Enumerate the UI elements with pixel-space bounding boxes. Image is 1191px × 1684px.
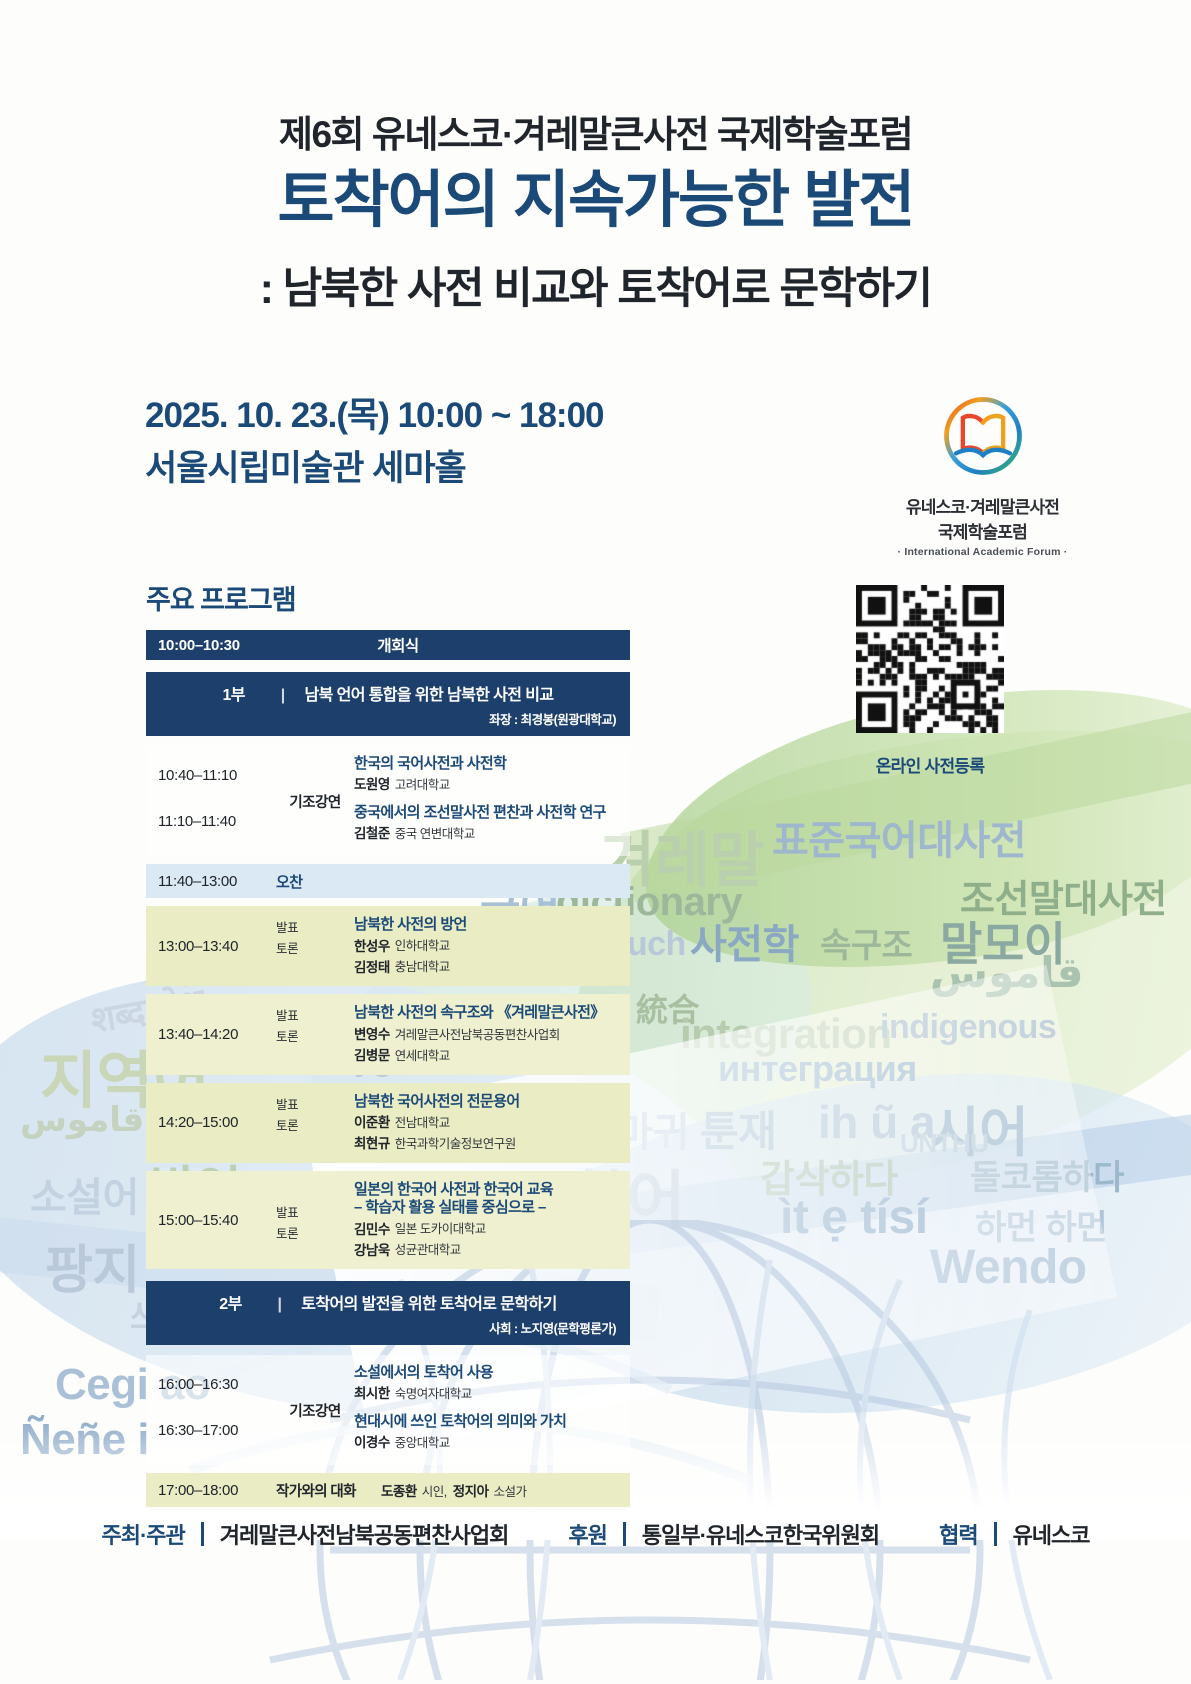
part1-number: 1부 [222, 687, 244, 704]
session-body: 남북한 국어사전의 전문용어이준환전남대학교최현규한국과학기술정보연구원 [354, 1093, 630, 1153]
session-person-name: 김민수 [354, 1218, 390, 1238]
lunch-title: 오찬 [276, 871, 303, 892]
session-time: 15:00–15:40 [146, 1181, 276, 1260]
closing-aff-1: 시인, [422, 1485, 447, 1499]
keynote1-block: 10:40–11:10 11:10–11:40 기조강연 한국의 국어사전과 사… [146, 746, 630, 856]
keynote1-talk2-title: 중국에서의 조선말사전 편찬과 사전학 연구 [354, 801, 630, 822]
closing-time: 17:00–18:00 [146, 1482, 276, 1499]
qr-code[interactable] [856, 585, 1004, 733]
session-role: 토론 [276, 1114, 354, 1135]
open-book-circle-icon [935, 388, 1031, 484]
footer-divider [201, 1522, 204, 1546]
session-list: 13:00–13:40발표토론남북한 사전의 방언한성우인하대학교김정태충남대학… [146, 906, 630, 1269]
footer-value: 유네스코 [1013, 1518, 1090, 1550]
session-person: 한성우인하대학교 [354, 934, 630, 955]
keynote2-talk1-aff: 숙명여자대학교 [395, 1387, 472, 1401]
session-role: 토론 [276, 1222, 354, 1243]
session-time: 13:00–13:40 [146, 916, 276, 976]
session-person-affiliation: 전남대학교 [395, 1112, 450, 1131]
qr-caption: 온라인 사전등록 [845, 752, 1015, 777]
footer-label: 주최·주관 [101, 1518, 184, 1550]
keynote1-time2: 11:10–11:40 [158, 813, 276, 830]
part1-divider: | [281, 687, 285, 704]
closing-kind: 작가와의 대화 [276, 1480, 381, 1501]
session-body: 일본의 한국어 사전과 한국어 교육– 학습자 활용 실태를 중심으로 –김민수… [354, 1181, 630, 1260]
part2-title: 토착어의 발전을 위한 토착어로 문학하기 [301, 1296, 556, 1313]
session-role: 토론 [276, 1025, 354, 1046]
keynote1-talk2-aff: 중국 연변대학교 [395, 827, 475, 841]
logo-caption-line3: · International Academic Forum · [855, 546, 1110, 558]
registration-qr-block[interactable]: 온라인 사전등록 [845, 585, 1015, 777]
lunch-time: 11:40–13:00 [146, 873, 276, 890]
page-subtitle: : 남북한 사전 비교와 토착어로 문학하기 [0, 254, 1191, 316]
session-person-affiliation: 일본 도카이대학교 [395, 1218, 486, 1237]
session-body: 남북한 사전의 방언한성우인하대학교김정태충남대학교 [354, 916, 630, 976]
closing-aff-2: 소설가 [494, 1485, 527, 1499]
part2-number: 2부 [219, 1296, 241, 1313]
keynote2-time2: 16:30–17:00 [158, 1422, 276, 1439]
footer-group: 주최·주관겨레말큰사전남북공동편찬사업회 [101, 1518, 508, 1550]
event-venue: 서울시립미술관 세마홀 [145, 440, 466, 491]
keynote1-talk1-speaker: 도원영고려대학교 [354, 773, 630, 793]
session-row: 13:40–14:20발표토론남북한 사전의 속구조와 《겨레말큰사전》변영수겨… [146, 994, 630, 1074]
event-datetime: 2025. 10. 23.(목) 10:00 ~ 18:00 [145, 387, 604, 438]
session-role: 발표 [276, 1201, 354, 1222]
keynote2-talk2-aff: 중앙대학교 [395, 1436, 450, 1450]
session-person-name: 강남욱 [354, 1239, 390, 1259]
session-row: 14:20–15:00발표토론남북한 국어사전의 전문용어이준환전남대학교최현규… [146, 1083, 630, 1163]
opening-row: 10:00–10:30 개회식 [146, 630, 630, 660]
keynote2-kind: 기조강연 [276, 1361, 354, 1459]
session-body: 남북한 사전의 속구조와 《겨레말큰사전》변영수겨레말큰사전남북공동편찬사업회김… [354, 1004, 630, 1064]
session-roles: 발표토론 [276, 1004, 354, 1064]
footer-group: 후원통일부·유네스코한국위원회 [568, 1518, 879, 1550]
session-roles: 발표토론 [276, 1093, 354, 1153]
session-person-name: 김병문 [354, 1044, 390, 1064]
page-title: 토착어의 지속가능한 발전 [0, 168, 1191, 235]
session-person-name: 김정태 [354, 956, 390, 976]
session-title: 남북한 사전의 속구조와 《겨레말큰사전》 [354, 1004, 630, 1022]
session-time: 14:20–15:00 [146, 1093, 276, 1153]
poster: 겨레말표준국어대사전조선말대사전문화어국어dictionary사전학속구조말모이… [0, 0, 1191, 1684]
forum-logo: 유네스코·겨레말큰사전 국제학술포럼 · International Acade… [855, 388, 1110, 558]
footer-value: 통일부·유네스코한국위원회 [642, 1518, 879, 1550]
event-kicker: 제6회 유네스코·겨레말큰사전 국제학술포럼 [0, 104, 1191, 158]
bg-word: 표준국어대사전 [772, 808, 1026, 866]
session-person-name: 변영수 [354, 1023, 390, 1043]
footer-group: 협력유네스코 [939, 1518, 1089, 1550]
closing-name-1: 도종환 [381, 1484, 417, 1499]
keynote2-talk2-name: 이경수 [354, 1435, 390, 1450]
keynote2-talk2-title: 현대시에 쓰인 토착어의 의미와 가치 [354, 1410, 630, 1431]
keynote1-talk2-name: 김철준 [354, 826, 390, 841]
session-person: 최현규한국과학기술정보연구원 [354, 1132, 630, 1153]
footer-label: 후원 [568, 1518, 606, 1550]
part1-chair: 좌장 : 최경봉(원광대학교) [160, 709, 616, 728]
opening-time: 10:00–10:30 [146, 637, 276, 654]
session-person-affiliation: 한국과학기술정보연구원 [395, 1133, 516, 1152]
keynote1-kind: 기조강연 [276, 752, 354, 850]
session-time: 13:40–14:20 [146, 1004, 276, 1064]
keynote2-time1: 16:00–16:30 [158, 1376, 276, 1393]
session-roles: 발표토론 [276, 916, 354, 976]
session-person-affiliation: 겨레말큰사전남북공동편찬사업회 [395, 1024, 560, 1043]
session-role: 발표 [276, 1004, 354, 1025]
keynote2-talk1-name: 최시한 [354, 1386, 390, 1401]
part1-title: 남북 언어 통합을 위한 남북한 사전 비교 [305, 687, 554, 704]
session-role: 발표 [276, 916, 354, 937]
session-person-name: 최현규 [354, 1132, 390, 1152]
part2-divider: | [278, 1296, 282, 1313]
logo-caption-line2: 국제학술포럼 [855, 518, 1110, 543]
session-row: 15:00–15:40발표토론일본의 한국어 사전과 한국어 교육– 학습자 활… [146, 1171, 630, 1270]
session-title: 일본의 한국어 사전과 한국어 교육 [354, 1181, 630, 1199]
keynote2-block: 16:00–16:30 16:30–17:00 기조강연 소설에서의 토착어 사… [146, 1355, 630, 1465]
footer-divider [623, 1522, 626, 1546]
closing-name-2: 정지아 [453, 1484, 489, 1499]
keynote2-talk1-title: 소설에서의 토착어 사용 [354, 1361, 630, 1382]
session-person-affiliation: 연세대학교 [395, 1045, 450, 1064]
footer-divider [994, 1522, 997, 1546]
session-role: 토론 [276, 937, 354, 958]
footer-label: 협력 [939, 1518, 977, 1550]
bg-word: 사전학 [690, 912, 799, 970]
program-table: 10:00–10:30 개회식 1부 | 남북 언어 통합을 위한 남북한 사전… [146, 630, 630, 1507]
bg-word: 속구조 [820, 918, 912, 967]
closing-row: 17:00–18:00 작가와의 대화 도종환시인,정지아소설가 [146, 1473, 630, 1507]
part2-chair: 사회 : 노지영(문학평론가) [160, 1318, 616, 1337]
session-role: 발표 [276, 1093, 354, 1114]
session-person-affiliation: 충남대학교 [395, 956, 450, 975]
program-heading: 주요 프로그램 [146, 578, 296, 617]
session-title: 남북한 사전의 방언 [354, 916, 630, 934]
session-title: 남북한 국어사전의 전문용어 [354, 1093, 630, 1111]
session-person: 이준환전남대학교 [354, 1111, 630, 1132]
opening-title: 개회식 [276, 634, 630, 656]
lunch-row: 11:40–13:00 오찬 [146, 864, 630, 898]
keynote1-talk1-aff: 고려대학교 [395, 778, 450, 792]
session-person: 강남욱성균관대학교 [354, 1238, 630, 1259]
session-person-affiliation: 인하대학교 [395, 935, 450, 954]
bg-word: 소설어 [30, 1165, 139, 1223]
bg-word: قاموس [20, 1100, 144, 1140]
session-person-name: 이준환 [354, 1111, 390, 1131]
keynote2-talk1-speaker: 최시한숙명여자대학교 [354, 1382, 630, 1402]
closing-guests: 도종환시인,정지아소설가 [381, 1480, 533, 1500]
session-roles: 발표토론 [276, 1181, 354, 1260]
keynote1-talk1-title: 한국의 국어사전과 사전학 [354, 752, 630, 773]
keynote2-talk2-speaker: 이경수중앙대학교 [354, 1431, 630, 1451]
footer-value: 겨레말큰사전남북공동편찬사업회 [220, 1518, 509, 1550]
session-person: 김민수일본 도카이대학교 [354, 1217, 630, 1238]
session-person: 변영수겨레말큰사전남북공동편찬사업회 [354, 1023, 630, 1044]
sponsor-footer: 주최·주관겨레말큰사전남북공동편찬사업회후원통일부·유네스코한국위원회협력유네스… [0, 1518, 1191, 1550]
session-person-affiliation: 성균관대학교 [395, 1239, 461, 1258]
part1-band: 1부 | 남북 언어 통합을 위한 남북한 사전 비교 좌장 : 최경봉(원광대… [146, 672, 630, 736]
session-person: 김정태충남대학교 [354, 955, 630, 976]
bg-word: 팡지 [45, 1228, 140, 1303]
session-row: 13:00–13:40발표토론남북한 사전의 방언한성우인하대학교김정태충남대학… [146, 906, 630, 986]
session-person: 김병문연세대학교 [354, 1044, 630, 1065]
session-subtitle: – 학습자 활용 실태를 중심으로 – [354, 1199, 630, 1217]
logo-caption-line1: 유네스코·겨레말큰사전 [855, 493, 1110, 518]
part2-band: 2부 | 토착어의 발전을 위한 토착어로 문학하기 사회 : 노지영(문학평론… [146, 1281, 630, 1345]
keynote1-talk1-name: 도원영 [354, 777, 390, 792]
keynote1-time1: 10:40–11:10 [158, 767, 276, 784]
keynote1-talk2-speaker: 김철준중국 연변대학교 [354, 822, 630, 842]
session-person-name: 한성우 [354, 935, 390, 955]
